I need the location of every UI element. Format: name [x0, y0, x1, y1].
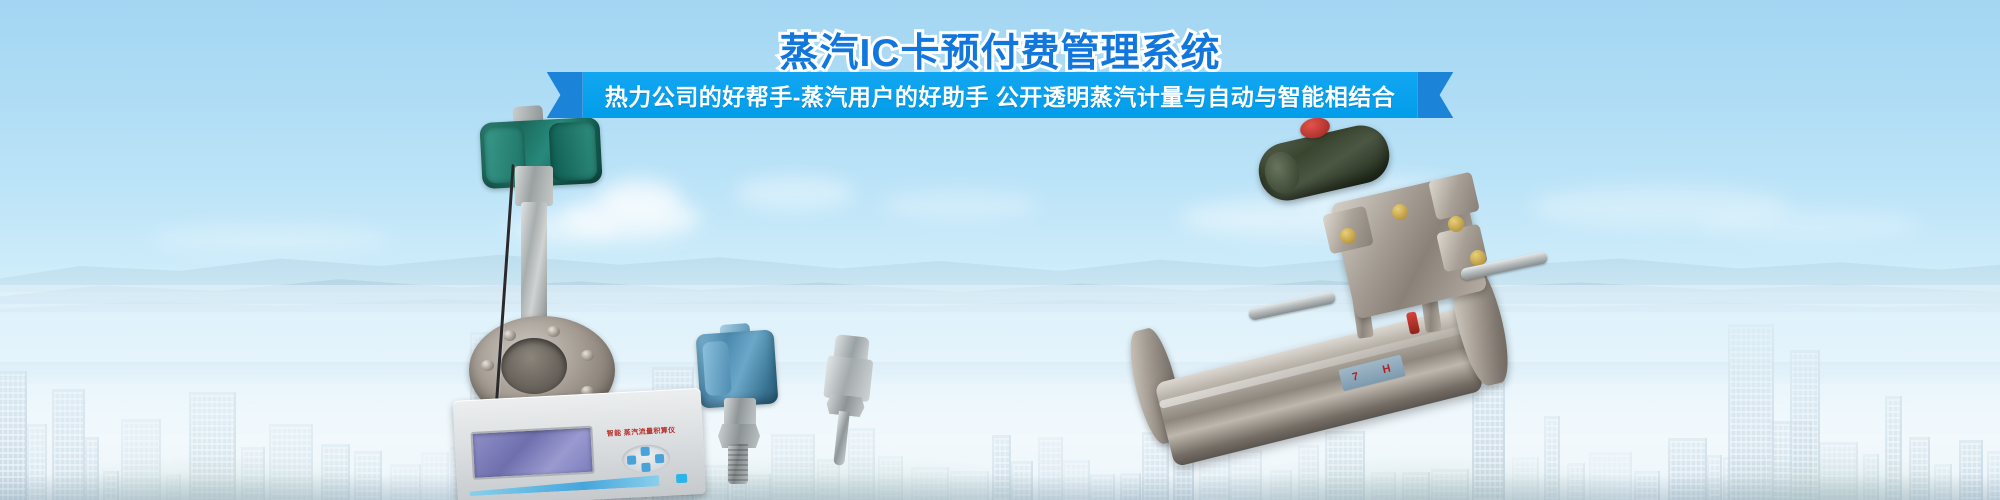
- nameplate-left-mark: 7: [1351, 370, 1361, 383]
- controller-lcd-screen: [470, 426, 594, 480]
- transmitter-neck: [724, 398, 756, 428]
- foreground-haze: [0, 474, 2000, 500]
- nameplate-right-mark: H: [1381, 362, 1393, 376]
- sensor-body: [823, 355, 873, 402]
- vortex-stem: [521, 202, 547, 330]
- cloud-icon: [1530, 186, 1790, 228]
- ribbon-tail-right-icon: [1417, 72, 1453, 118]
- controller-keypad: [621, 444, 670, 474]
- page-subtitle: 热力公司的好帮手-蒸汽用户的好助手 公开透明蒸汽计量与自动与智能相结合: [605, 78, 1396, 112]
- page-title: 蒸汽IC卡预付费管理系统: [779, 22, 1220, 78]
- subtitle-container: 热力公司的好帮手-蒸汽用户的好助手 公开透明蒸汽计量与自动与智能相结合: [0, 72, 2000, 118]
- title-container: 蒸汽IC卡预付费管理系统: [0, 22, 2000, 78]
- vortex-neck-collar: [515, 166, 553, 206]
- flange-bolt: [503, 330, 516, 341]
- cloud-icon: [880, 190, 1040, 220]
- controller-brand-label: 智能 蒸汽流量积算仪: [606, 425, 675, 439]
- subtitle-ribbon: 热力公司的好帮手-蒸汽用户的好助手 公开透明蒸汽计量与自动与智能相结合: [547, 72, 1454, 118]
- cityscape: [0, 285, 2000, 500]
- ribbon-tail-left-icon: [547, 72, 583, 118]
- keypad-down-key: [641, 463, 650, 472]
- manifold-brass-fitting: [1340, 228, 1356, 244]
- ic-card-controller-icon: 智能 蒸汽流量积算仪: [452, 373, 718, 500]
- controller-status-led: [676, 474, 687, 484]
- keypad-left-key: [627, 455, 636, 464]
- controller-case: 智能 蒸汽流量积算仪: [453, 388, 706, 500]
- flange-bolt: [481, 360, 494, 371]
- cloud-icon: [150, 226, 390, 252]
- cloud-icon: [1700, 210, 1920, 240]
- hero-banner: 蒸汽IC卡预付费管理系统 热力公司的好帮手-蒸汽用户的好助手 公开透明蒸汽计量与…: [0, 0, 2000, 500]
- keypad-right-key: [655, 454, 664, 463]
- manifold-brass-fitting: [1448, 216, 1464, 232]
- orifice-flowmeter-icon: 7 H: [1140, 100, 1560, 500]
- river: [0, 362, 2000, 384]
- flange-bolt: [547, 326, 560, 337]
- manifold-brass-fitting: [1392, 204, 1408, 220]
- manifold-block: [1428, 172, 1480, 221]
- flange-bolt: [581, 350, 594, 361]
- transmitter-process-connection: [728, 444, 748, 484]
- ribbon-body: 热力公司的好帮手-蒸汽用户的好助手 公开透明蒸汽计量与自动与智能相结合: [583, 72, 1418, 118]
- mountain-ridge-far: [0, 230, 2000, 292]
- sensor-probe: [833, 411, 850, 466]
- cloud-icon: [735, 176, 855, 210]
- keypad-up-key: [640, 447, 649, 456]
- manifold-valve-handle: [1248, 291, 1337, 321]
